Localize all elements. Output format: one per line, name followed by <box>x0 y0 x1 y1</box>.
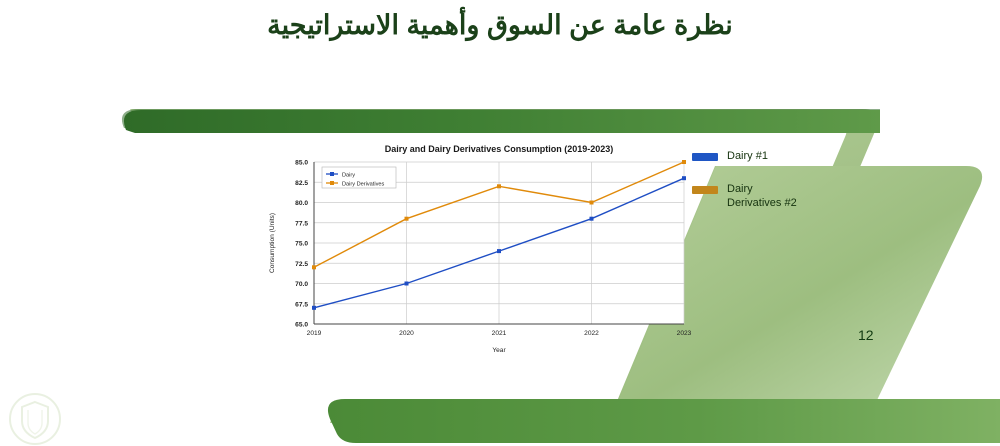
side-legend-label: Dairy #1 <box>727 150 768 164</box>
svg-text:2022: 2022 <box>584 330 599 337</box>
page-title: نظرة عامة عن السوق وأهمية الاستراتيجية <box>0 8 1000 43</box>
svg-text:Dairy: Dairy <box>342 172 355 178</box>
legend-color-swatch <box>692 186 718 194</box>
svg-text:Consumption (Units): Consumption (Units) <box>269 213 276 273</box>
page-number: 12 <box>858 327 874 343</box>
svg-text:82.5: 82.5 <box>295 180 308 187</box>
svg-text:72.5: 72.5 <box>295 261 308 268</box>
svg-text:80.0: 80.0 <box>295 200 308 207</box>
bottom-banner <box>328 399 1000 443</box>
svg-text:2020: 2020 <box>399 330 414 337</box>
svg-text:67.5: 67.5 <box>295 301 308 308</box>
chart-title: Dairy and Dairy Derivatives Consumption … <box>385 144 614 154</box>
svg-text:75.0: 75.0 <box>295 241 308 248</box>
svg-text:85.0: 85.0 <box>295 160 308 167</box>
top-banner <box>124 110 880 133</box>
svg-text:77.5: 77.5 <box>295 220 308 227</box>
svg-text:Year: Year <box>492 347 506 354</box>
side-legend-item-dairy-derivatives: Dairy Derivatives #2 <box>692 183 807 211</box>
consumption-line-chart: Dairy and Dairy Derivatives Consumption … <box>262 140 692 358</box>
svg-text:2019: 2019 <box>307 330 322 337</box>
svg-text:65.0: 65.0 <box>295 322 308 329</box>
side-legend-label: Dairy Derivatives #2 <box>727 183 807 211</box>
svg-text:2023: 2023 <box>677 330 692 337</box>
top-banner-shape <box>122 109 880 128</box>
side-legend: Dairy #1 Dairy Derivatives #2 <box>692 150 807 229</box>
svg-text:2021: 2021 <box>492 330 507 337</box>
svg-text:Dairy Derivatives: Dairy Derivatives <box>342 181 384 187</box>
side-legend-item-dairy: Dairy #1 <box>692 150 807 164</box>
shield-watermark-logo <box>8 392 62 446</box>
svg-text:70.0: 70.0 <box>295 281 308 288</box>
legend-color-swatch <box>692 153 718 161</box>
